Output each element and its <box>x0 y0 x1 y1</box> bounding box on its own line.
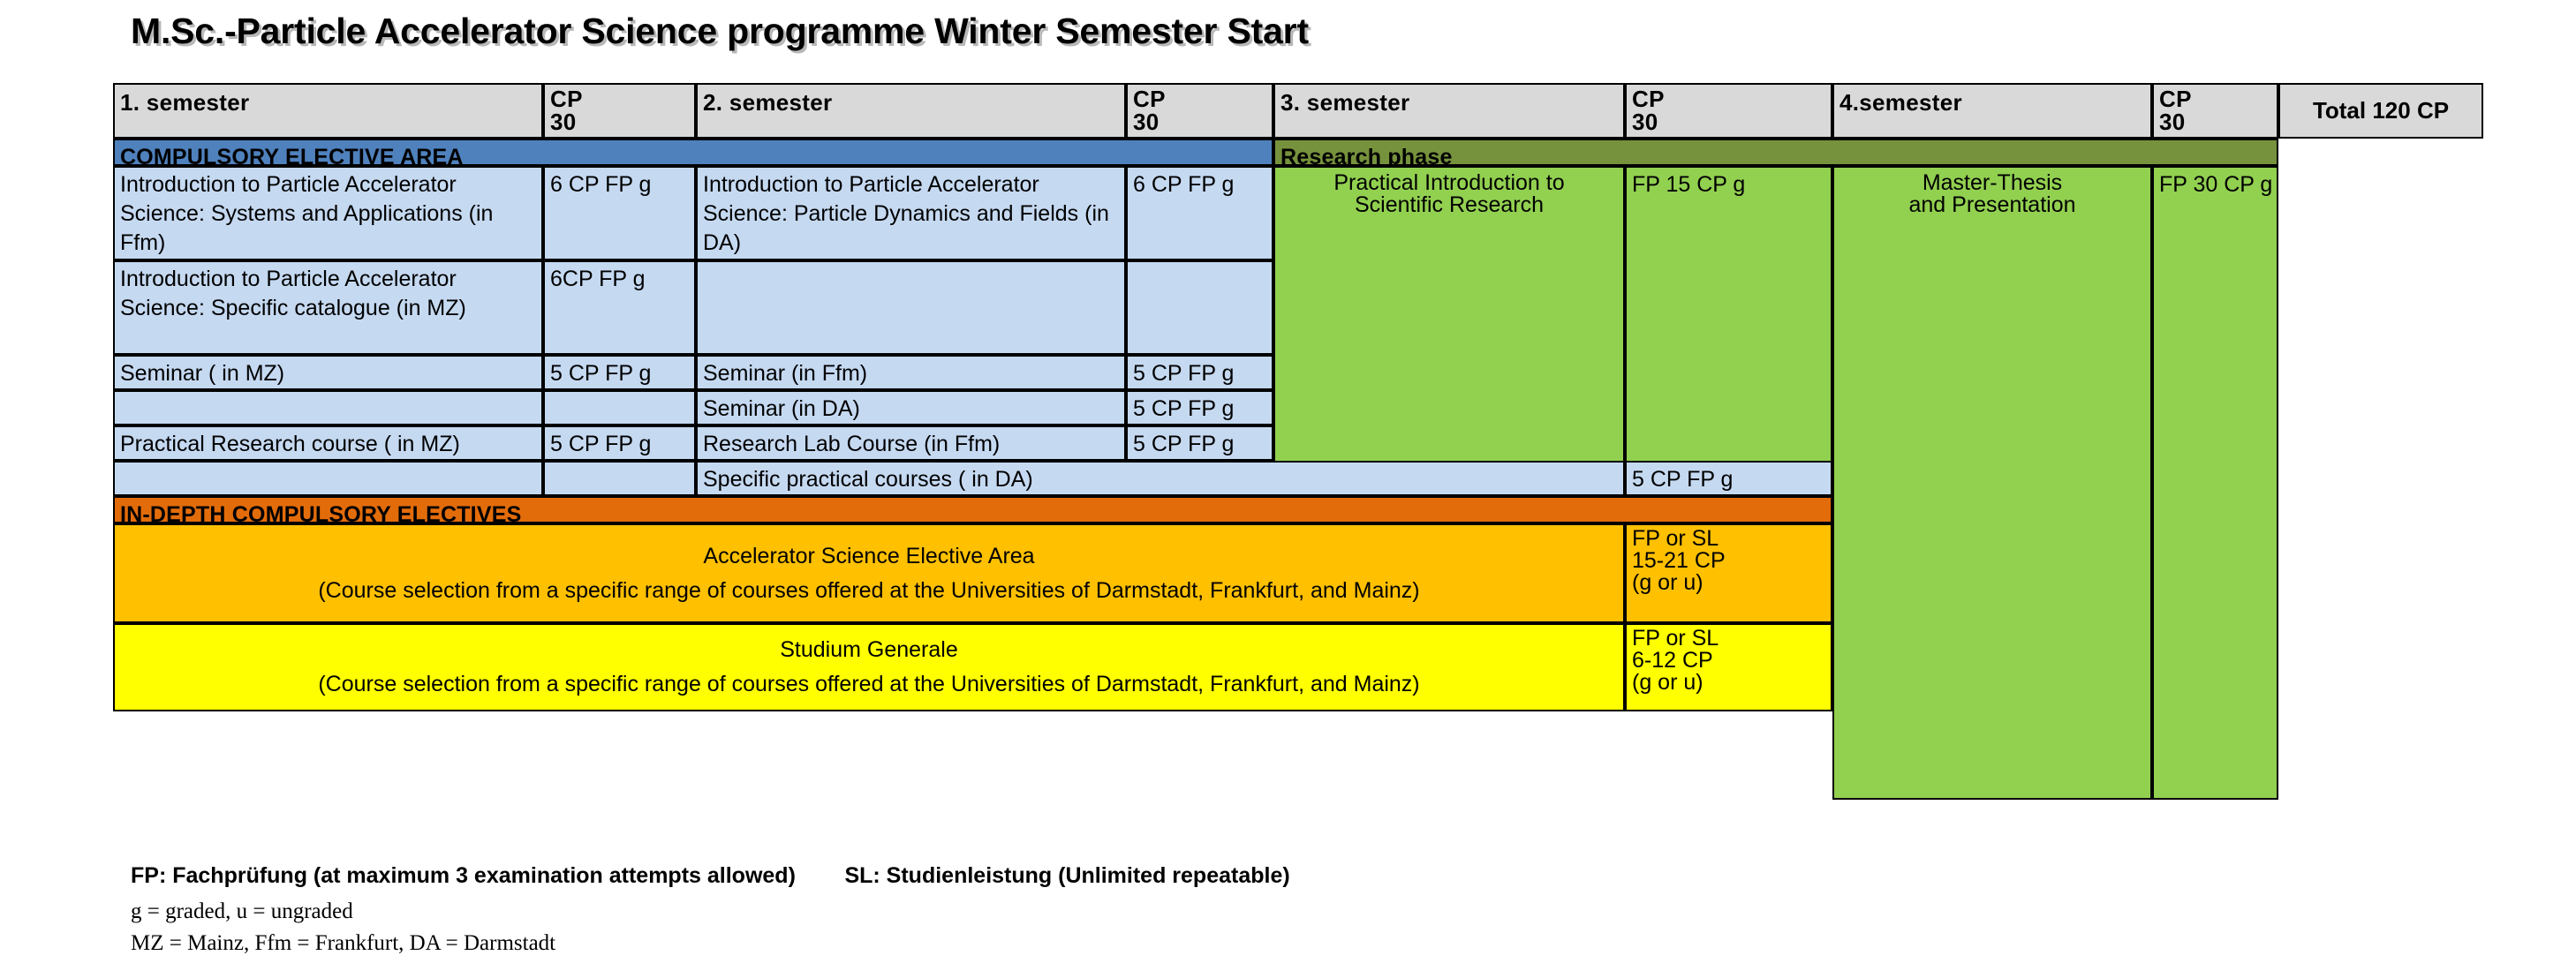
header-cp-3-value: 30 <box>1632 110 1825 133</box>
cp-cell-s1-r4 <box>543 390 696 425</box>
cp-cell-s2-r1: 6 CP FP g <box>1126 166 1273 260</box>
header-semester-2: 2. semester <box>696 83 1126 139</box>
header-cp-4-label: CP <box>2159 87 2271 110</box>
cp-cell-specific-practical: 5 CP FP g <box>1625 461 1832 496</box>
header-cp-1: CP 30 <box>543 83 696 139</box>
course-label-s1-r1: Introduction to Particle Accelerator Sci… <box>120 172 493 255</box>
cp-cell-accelerator-science: FP or SL 15-21 CP (g or u) <box>1625 523 1832 623</box>
band-in-depth-compulsory-electives: IN-DEPTH COMPULSORY ELECTIVES <box>113 496 1832 523</box>
course-cell-specific-practical: Specific practical courses ( in DA) <box>696 461 1625 496</box>
header-semester-3: 3. semester <box>1273 83 1625 139</box>
cp-label-specific-practical: 5 CP FP g <box>1632 467 1733 492</box>
cp-cell-s1-r2: 6CP FP g <box>543 260 696 355</box>
band-research-phase-label: Research phase <box>1280 145 1453 166</box>
header-cp-4-value: 30 <box>2159 110 2271 133</box>
legend-grading-line: g = graded, u = ungraded <box>131 899 2074 924</box>
course-cell-s2-r3: Seminar (in Ffm) <box>696 355 1126 390</box>
course-cell-s4-thesis: Master-Thesis and Presentation <box>1832 166 2152 800</box>
course-cell-s1-r3: Seminar ( in MZ) <box>113 355 543 390</box>
cp-label-s1-r5: 5 CP FP g <box>550 432 651 456</box>
cp-studium-generale-line2: 6-12 CP <box>1632 650 1825 672</box>
header-cp-2-label: CP <box>1133 87 1266 110</box>
cp-cell-s4-thesis: FP 30 CP g <box>2152 166 2278 800</box>
course-label-specific-practical: Specific practical courses ( in DA) <box>703 467 1033 492</box>
course-cell-s1-r6 <box>113 461 543 496</box>
course-label-s4-line2: and Presentation <box>1908 194 2075 216</box>
course-label-s1-r2: Introduction to Particle Accelerator Sci… <box>120 267 466 320</box>
course-label-s3-line2: Scientific Research <box>1355 194 1544 216</box>
elective-block-studium-generale-title: Studium Generale <box>780 639 958 661</box>
cp-cell-s2-r2 <box>1126 260 1273 355</box>
band-in-depth-compulsory-electives-label: IN-DEPTH COMPULSORY ELECTIVES <box>120 502 521 523</box>
header-semester-4-label: 4.semester <box>1839 89 1962 116</box>
cp-label-s2-r5: 5 CP FP g <box>1133 432 1234 456</box>
cp-label-s4-thesis: FP 30 CP g <box>2159 172 2272 197</box>
elective-block-studium-generale: Studium Generale (Course selection from … <box>113 623 1625 711</box>
elective-block-studium-generale-subtitle: (Course selection from a specific range … <box>318 673 1419 696</box>
course-label-s4-line1: Master-Thesis <box>1923 172 2062 194</box>
page-title: M.Sc.-Particle Accelerator Science progr… <box>131 11 1309 52</box>
elective-block-accelerator-science-title: Accelerator Science Elective Area <box>703 545 1034 568</box>
header-cp-4: CP 30 <box>2152 83 2278 139</box>
course-cell-s1-r2: Introduction to Particle Accelerator Sci… <box>113 260 543 355</box>
course-label-s2-r1: Introduction to Particle Accelerator Sci… <box>703 172 1109 255</box>
elective-block-accelerator-science: Accelerator Science Elective Area (Cours… <box>113 523 1625 623</box>
cp-label-s2-r3: 5 CP FP g <box>1133 361 1234 386</box>
header-cp-1-value: 30 <box>550 110 689 133</box>
course-label-s1-r3: Seminar ( in MZ) <box>120 361 284 386</box>
cp-cell-s2-r5: 5 CP FP g <box>1126 425 1273 461</box>
header-semester-4: 4.semester <box>1832 83 2152 139</box>
cp-label-s1-r2: 6CP FP g <box>550 267 645 291</box>
cp-label-s2-r1: 6 CP FP g <box>1133 172 1234 197</box>
header-cp-2: CP 30 <box>1126 83 1273 139</box>
cp-accelerator-science-line3: (g or u) <box>1632 572 1825 594</box>
cp-cell-s2-r4: 5 CP FP g <box>1126 390 1273 425</box>
course-cell-s2-r1: Introduction to Particle Accelerator Sci… <box>696 166 1126 260</box>
cp-cell-s1-r5: 5 CP FP g <box>543 425 696 461</box>
cp-label-s2-r4: 5 CP FP g <box>1133 396 1234 421</box>
header-semester-1-label: 1. semester <box>120 89 249 116</box>
header-cp-2-value: 30 <box>1133 110 1266 133</box>
cp-label-s1-r1: 6 CP FP g <box>550 172 651 197</box>
header-semester-3-label: 3. semester <box>1280 89 1409 116</box>
cp-studium-generale-line3: (g or u) <box>1632 672 1825 694</box>
cp-cell-s1-r6 <box>543 461 696 496</box>
cp-cell-s1-r1: 6 CP FP g <box>543 166 696 260</box>
band-compulsory-elective-area: COMPULSORY ELECTIVE AREA <box>113 139 1273 166</box>
course-cell-s2-r4: Seminar (in DA) <box>696 390 1126 425</box>
course-cell-s1-r4 <box>113 390 543 425</box>
cp-accelerator-science-line1: FP or SL <box>1632 528 1825 550</box>
legend-abbreviation-line: FP: Fachprüfung (at maximum 3 examinatio… <box>131 863 2074 889</box>
curriculum-table: 1. semester CP 30 2. semester CP 30 3. s… <box>113 83 2483 800</box>
legend: FP: Fachprüfung (at maximum 3 examinatio… <box>131 863 2074 963</box>
cp-cell-s2-r3: 5 CP FP g <box>1126 355 1273 390</box>
course-cell-s2-r2 <box>696 260 1126 355</box>
band-compulsory-elective-area-label: COMPULSORY ELECTIVE AREA <box>120 145 464 166</box>
cp-label-s3-research: FP 15 CP g <box>1632 172 1745 197</box>
header-cp-3: CP 30 <box>1625 83 1832 139</box>
header-semester-1: 1. semester <box>113 83 543 139</box>
legend-locations-line: MZ = Mainz, Ffm = Frankfurt, DA = Darmst… <box>131 931 2074 956</box>
header-total-cp-label: Total 120 CP <box>2313 95 2449 125</box>
course-label-s2-r5: Research Lab Course (in Ffm) <box>703 432 1000 456</box>
cp-cell-s1-r3: 5 CP FP g <box>543 355 696 390</box>
elective-block-accelerator-science-subtitle: (Course selection from a specific range … <box>318 580 1419 602</box>
course-label-s1-r5: Practical Research course ( in MZ) <box>120 432 460 456</box>
cp-studium-generale-line1: FP or SL <box>1632 628 1825 650</box>
course-label-s2-r4: Seminar (in DA) <box>703 396 860 421</box>
header-cp-3-label: CP <box>1632 87 1825 110</box>
course-label-s2-r3: Seminar (in Ffm) <box>703 361 867 386</box>
course-cell-s2-r5: Research Lab Course (in Ffm) <box>696 425 1126 461</box>
cp-accelerator-science-line2: 15-21 CP <box>1632 550 1825 572</box>
header-cp-1-label: CP <box>550 87 689 110</box>
cp-label-s1-r3: 5 CP FP g <box>550 361 651 386</box>
cp-cell-studium-generale: FP or SL 6-12 CP (g or u) <box>1625 623 1832 711</box>
course-label-s3-line1: Practical Introduction to <box>1333 172 1564 194</box>
header-semester-2-label: 2. semester <box>703 89 832 116</box>
header-total-cp: Total 120 CP <box>2278 83 2483 139</box>
course-cell-s1-r1: Introduction to Particle Accelerator Sci… <box>113 166 543 260</box>
course-cell-s1-r5: Practical Research course ( in MZ) <box>113 425 543 461</box>
band-research-phase: Research phase <box>1273 139 2278 166</box>
